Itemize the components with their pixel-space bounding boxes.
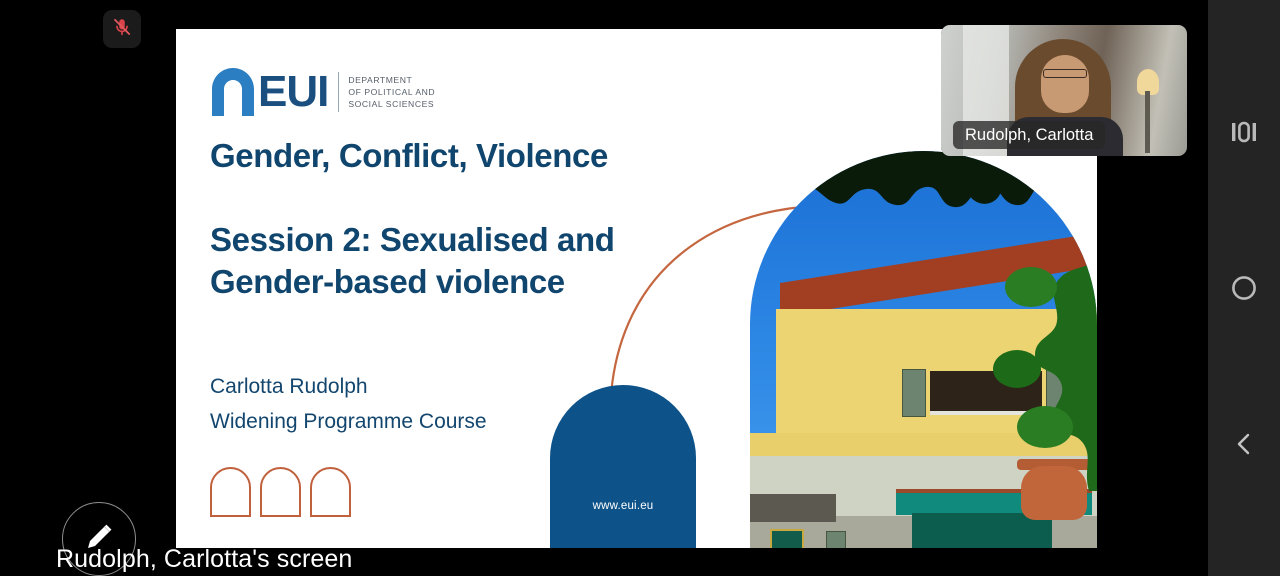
department-line-3: SOCIAL SCIENCES xyxy=(348,98,435,110)
slide-photo xyxy=(750,151,1097,548)
slide-title: Gender, Conflict, Violence xyxy=(210,137,770,175)
participant-video-tile[interactable]: Rudolph, Carlotta xyxy=(941,25,1187,156)
eui-wordmark: EUI xyxy=(258,70,328,114)
department-line-2: OF POLITICAL AND xyxy=(348,86,435,98)
video-person-glasses xyxy=(1043,69,1087,78)
eui-logo: EUI DEPARTMENT OF POLITICAL AND SOCIAL S… xyxy=(210,67,435,117)
view-layout-icon xyxy=(1231,121,1257,143)
eui-arch-logo-icon xyxy=(210,67,256,117)
screen-share-label: Rudolph, Carlotta's screen xyxy=(56,545,352,574)
logo-divider xyxy=(338,72,339,112)
photo-content xyxy=(750,151,1097,548)
department-line-1: DEPARTMENT xyxy=(348,74,435,86)
photo-shutter xyxy=(902,369,926,417)
chevron-left-icon xyxy=(1233,431,1255,457)
participant-name: Rudolph, Carlotta xyxy=(965,126,1093,145)
view-layout-button[interactable] xyxy=(1208,104,1280,160)
zoom-meeting-window: EUI DEPARTMENT OF POLITICAL AND SOCIAL S… xyxy=(0,0,1280,576)
arch-decoration xyxy=(260,467,301,517)
record-circle-icon xyxy=(1231,275,1257,301)
record-button[interactable] xyxy=(1208,260,1280,316)
blue-arch-panel: www.eui.eu xyxy=(550,385,696,548)
photo-side-door xyxy=(770,529,804,548)
photo-vine xyxy=(979,191,1097,491)
right-control-rail xyxy=(1208,0,1280,576)
collapse-panel-button[interactable] xyxy=(1208,416,1280,472)
microphone-muted-icon xyxy=(111,16,133,43)
arch-decoration-group xyxy=(210,467,351,517)
video-lamp-stand xyxy=(1145,91,1150,153)
slide-subtitle: Session 2: Sexualised and Gender-based v… xyxy=(210,219,730,303)
photo-bench xyxy=(750,494,836,522)
video-person-face xyxy=(1041,55,1089,113)
arch-decoration xyxy=(310,467,351,517)
website-url: www.eui.eu xyxy=(550,500,696,512)
department-name: DEPARTMENT OF POLITICAL AND SOCIAL SCIEN… xyxy=(348,74,435,111)
photo-shutter xyxy=(826,531,846,548)
participant-name-badge: Rudolph, Carlotta xyxy=(953,121,1105,149)
arch-decoration xyxy=(210,467,251,517)
microphone-muted-indicator[interactable] xyxy=(103,10,141,48)
